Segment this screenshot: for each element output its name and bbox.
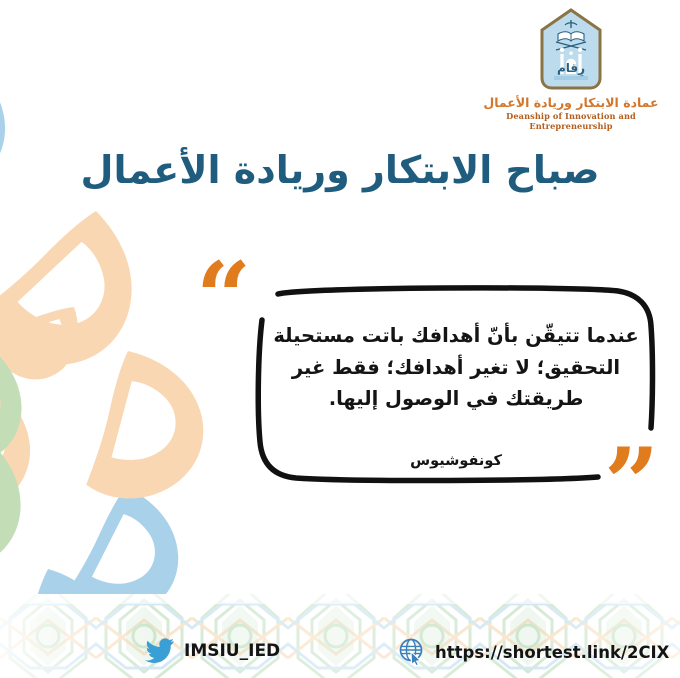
twitter-handle-item[interactable]: IMSIU_IED <box>145 638 280 663</box>
opening-quote-mark: “ <box>196 250 251 346</box>
org-name-english: Deanship of Innovation and Entrepreneurs… <box>468 111 674 131</box>
quote-block: “ عندما تتيقّن بأنّ أهدافك باتت مستحيلة … <box>196 258 666 518</box>
twitter-handle-label: IMSIU_IED <box>184 641 280 661</box>
quote-text: عندما تتيقّن بأنّ أهدافك باتت مستحيلة ال… <box>256 320 656 415</box>
globe-cursor-icon <box>398 638 426 666</box>
poster-canvas: رِقام عمادة الابتكار وريادة الأعمال Dean… <box>0 0 680 678</box>
page-title: صباح الابتكار وريادة الأعمال <box>80 148 600 192</box>
brand-logo-block: رِقام عمادة الابتكار وريادة الأعمال Dean… <box>468 8 674 131</box>
svg-text:رِقام: رِقام <box>557 61 585 77</box>
imsiu-university-crest-icon: رِقام <box>538 8 604 90</box>
closing-quote-mark: ” <box>604 436 659 532</box>
website-url-item[interactable]: https://shortest.link/2CIX <box>398 638 669 666</box>
twitter-bird-icon <box>145 638 175 663</box>
website-url-label: https://shortest.link/2CIX <box>435 643 669 662</box>
org-name-arabic: عمادة الابتكار وريادة الأعمال <box>468 96 674 110</box>
quote-author: كونفوشيوس <box>256 453 656 469</box>
